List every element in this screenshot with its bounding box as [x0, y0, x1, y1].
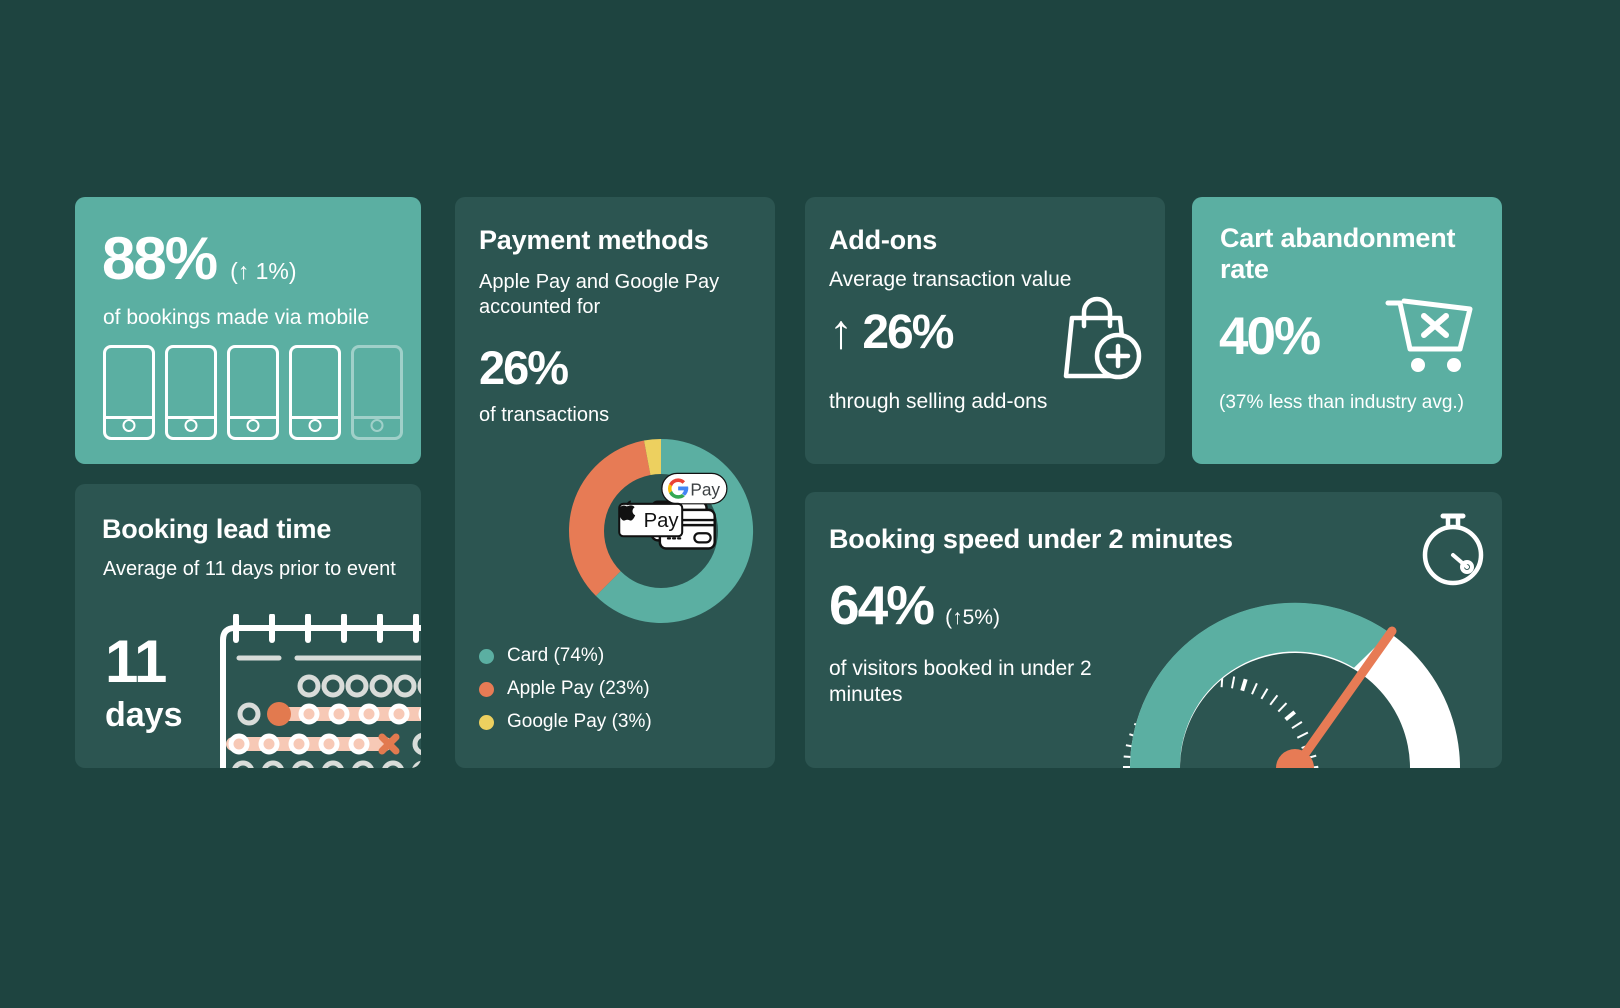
cart-caption: (37% less than industry avg.) — [1219, 391, 1464, 415]
google-g-icon — [668, 478, 688, 498]
card-cart-abandonment: Cart abandonment rate 40% (37% less than… — [1192, 197, 1502, 464]
payment-subtitle: Apple Pay and Google Pay accounted for — [479, 270, 724, 320]
payment-badges-illustration: Pay Pay — [603, 471, 735, 563]
cart-title: Cart abandonment rate — [1220, 223, 1460, 286]
speed-delta: (↑5%) — [945, 606, 1000, 630]
phone-icon — [165, 345, 217, 440]
speed-stat-row: 64% (↑5%) — [829, 578, 1000, 633]
addon-subtitle: Average transaction value — [829, 267, 1071, 293]
apple-pay-label: Pay — [644, 510, 680, 532]
addon-value: ↑ 26% — [829, 309, 952, 357]
cart-value: 40% — [1219, 310, 1319, 363]
addon-caption: through selling add-ons — [829, 389, 1047, 415]
legend-swatch-google-pay — [479, 715, 494, 730]
legend-label-card: Card (74%) — [507, 645, 604, 667]
mobile-stat-row: 88% (↑ 1%) — [102, 229, 297, 289]
payment-caption: of transactions — [479, 403, 609, 428]
phone-icon-faded — [351, 345, 403, 440]
speed-percentage: 64% — [829, 578, 933, 633]
phone-icon — [227, 345, 279, 440]
speed-title: Booking speed under 2 minutes — [829, 524, 1233, 555]
legend-item-card: Card (74%) — [479, 645, 652, 667]
calendar-illustration — [209, 614, 421, 768]
google-pay-badge: Pay — [662, 473, 727, 503]
mobile-delta: (↑ 1%) — [230, 258, 296, 285]
payment-donut-chart: Pay Pay — [561, 431, 761, 631]
payment-title: Payment methods — [479, 225, 709, 256]
legend-label-google-pay: Google Pay (3%) — [507, 711, 652, 733]
mobile-caption: of bookings made via mobile — [103, 305, 369, 331]
lead-subtitle: Average of 11 days prior to event — [103, 557, 396, 582]
card-mobile-bookings: 88% (↑ 1%) of bookings made via mobile — [75, 197, 421, 464]
speed-caption: of visitors booked in under 2 minutes — [829, 656, 1099, 709]
card-booking-lead-time: Booking lead time Average of 11 days pri… — [75, 484, 421, 768]
mobile-percentage: 88% — [102, 229, 216, 289]
payment-legend: Card (74%) Apple Pay (23%) Google Pay (3… — [479, 645, 652, 744]
addon-title: Add-ons — [829, 225, 937, 256]
cancelled-day-x-icon — [382, 737, 396, 751]
lead-title: Booking lead time — [102, 514, 331, 545]
legend-label-apple-pay: Apple Pay (23%) — [507, 678, 650, 700]
phone-row-illustration — [103, 345, 403, 440]
shopping-bag-plus-icon — [1060, 292, 1144, 384]
legend-item-google-pay: Google Pay (3%) — [479, 711, 652, 733]
card-payment-methods: Payment methods Apple Pay and Google Pay… — [455, 197, 775, 768]
payment-percentage: 26% — [479, 344, 567, 391]
card-add-ons: Add-ons Average transaction value ↑ 26% … — [805, 197, 1165, 464]
lead-value: 11 — [105, 632, 166, 692]
google-pay-label: Pay — [690, 480, 720, 500]
phone-icon — [103, 345, 155, 440]
lead-unit: days — [105, 696, 183, 735]
card-booking-speed: Booking speed under 2 minutes 64% (↑5%) … — [805, 492, 1502, 768]
infographic-dashboard: 88% (↑ 1%) of bookings made via mobile B… — [0, 0, 1620, 1008]
phone-icon — [289, 345, 341, 440]
legend-swatch-apple-pay — [479, 682, 494, 697]
legend-item-apple-pay: Apple Pay (23%) — [479, 678, 652, 700]
cart-x-icon — [1384, 297, 1476, 375]
apple-pay-badge: Pay — [619, 501, 683, 537]
legend-swatch-card — [479, 649, 494, 664]
booking-speed-gauge — [1105, 568, 1485, 768]
